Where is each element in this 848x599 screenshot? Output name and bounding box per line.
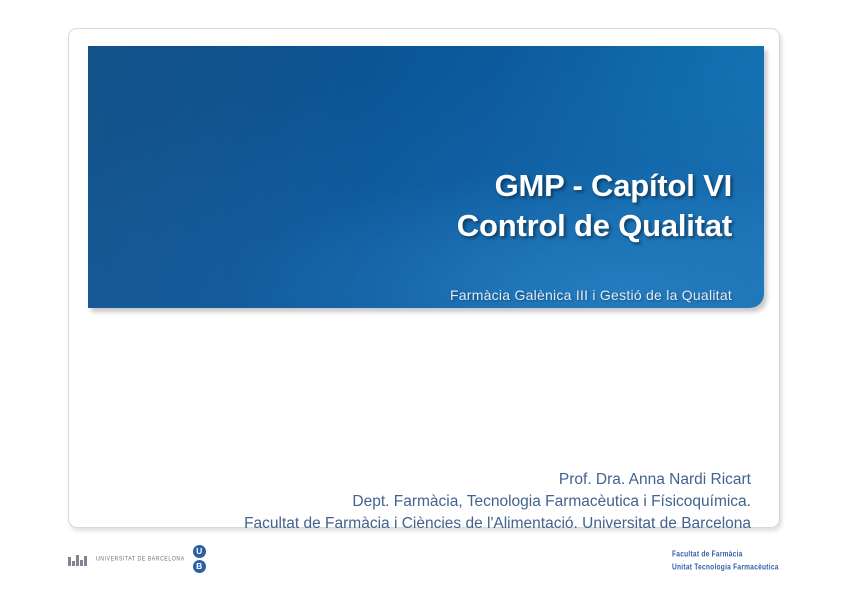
ub-wordmark: UNIVERSITAT DE BARCELONA	[96, 555, 185, 563]
author-line-faculty: Facultat de Farmàcia i Ciències de l'Ali…	[69, 513, 751, 535]
slide-title-line-2: Control de Qualitat	[450, 206, 732, 246]
slide-title-line-1: GMP - Capítol VI	[450, 166, 732, 206]
faculty-footer: Facultat de Farmàcia Unitat Tecnologia F…	[672, 549, 779, 575]
author-block: Prof. Dra. Anna Nardi Ricart Dept. Farmà…	[69, 469, 751, 535]
ub-badge-u-icon: U	[193, 545, 206, 558]
ub-emblem-icon	[68, 553, 90, 566]
ub-badge-b-icon: B	[193, 560, 206, 573]
ub-badge-group: U B	[193, 545, 206, 573]
faculty-footer-line-2: Unitat Tecnologia Farmacèutica	[672, 562, 779, 575]
slide-subtitle: Farmàcia Galènica III i Gestió de la Qua…	[450, 287, 732, 303]
university-logo: UNIVERSITAT DE BARCELONA U B	[68, 538, 206, 580]
banner-text-block: GMP - Capítol VI Control de Qualitat Far…	[450, 166, 732, 303]
author-line-department: Dept. Farmàcia, Tecnologia Farmacèutica …	[69, 491, 751, 513]
author-line-name: Prof. Dra. Anna Nardi Ricart	[69, 469, 751, 491]
title-banner: GMP - Capítol VI Control de Qualitat Far…	[88, 46, 764, 308]
faculty-footer-line-1: Facultat de Farmàcia	[672, 549, 779, 562]
